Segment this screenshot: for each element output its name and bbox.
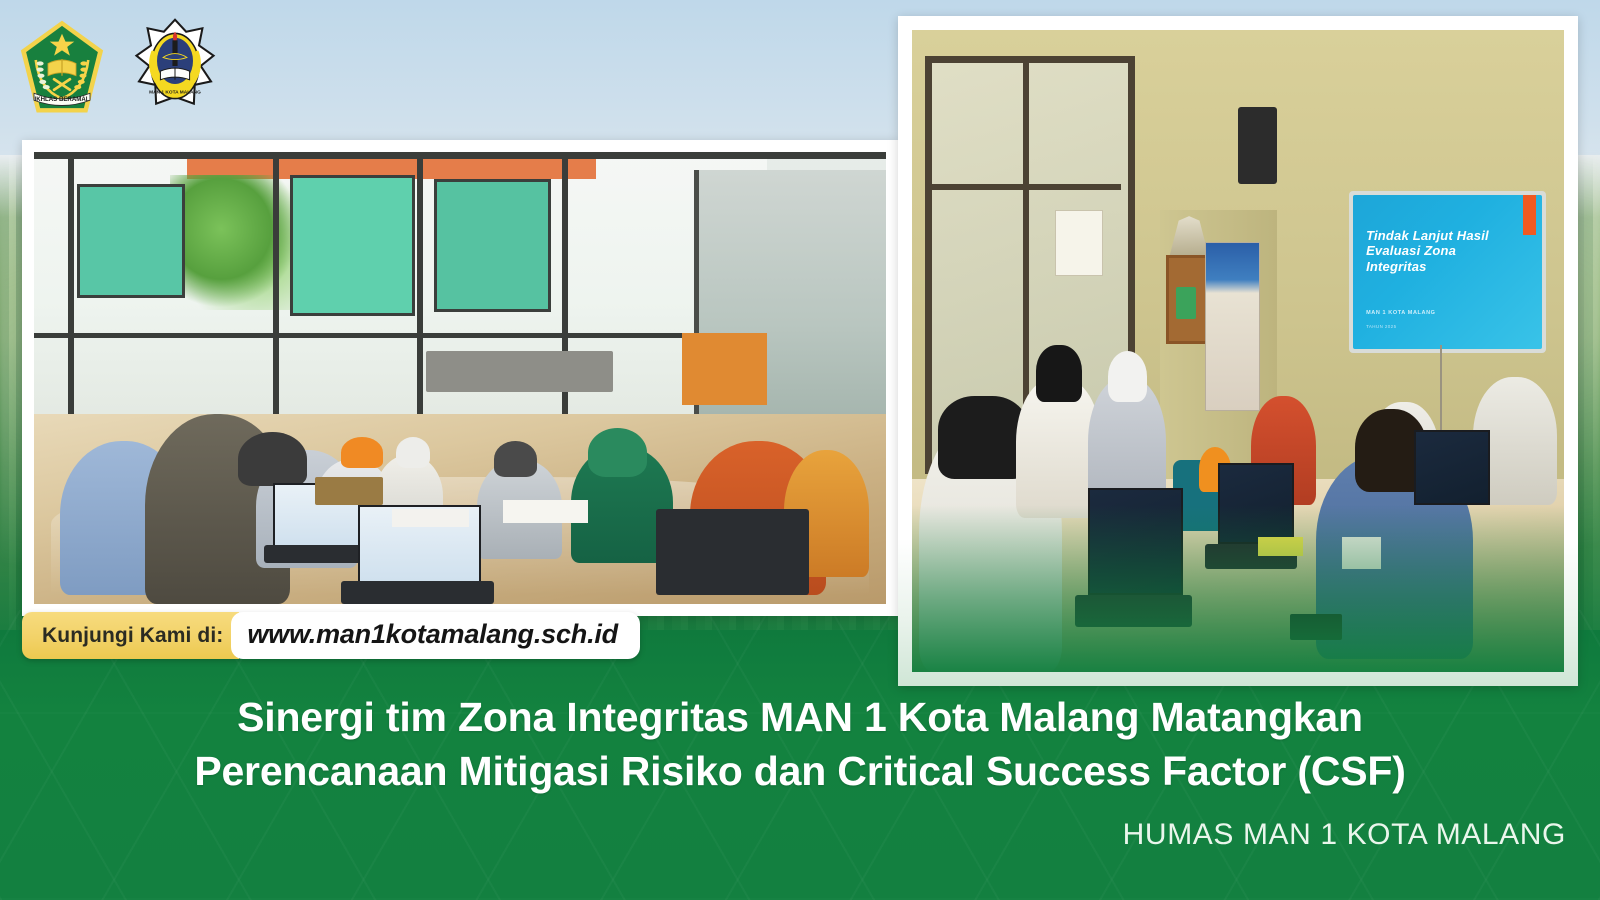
website-badge-label: Kunjungi Kami di:: [22, 612, 239, 659]
page-title-line1: Sinergi tim Zona Integritas MAN 1 Kota M…: [237, 694, 1363, 740]
poster-canvas: IKHLAS BERAMAL MAN 1 KOTA MALANG: [0, 0, 1600, 900]
photo-meeting-office: [22, 140, 898, 616]
screen-subtitle: MAN 1 KOTA MALANG: [1366, 310, 1435, 316]
kemenag-logo-motto: IKHLAS BERAMAL: [35, 96, 90, 103]
page-title: Sinergi tim Zona Integritas MAN 1 Kota M…: [60, 690, 1540, 798]
man1-logo-motto: MAN 1 KOTA MALANG: [149, 89, 201, 95]
kemenag-logo-icon: IKHLAS BERAMAL: [18, 18, 106, 116]
screen-title-line3: Integritas: [1366, 259, 1489, 274]
credit-line: HUMAS MAN 1 KOTA MALANG: [1123, 818, 1566, 852]
website-badge[interactable]: Kunjungi Kami di: www.man1kotamalang.sch…: [22, 612, 640, 659]
logo-group: IKHLAS BERAMAL MAN 1 KOTA MALANG: [18, 18, 218, 116]
website-url[interactable]: www.man1kotamalang.sch.id: [231, 612, 640, 659]
photo-meeting-presentation: Tindak Lanjut Hasil Evaluasi Zona Integr…: [898, 16, 1578, 686]
screen-title-line1: Tindak Lanjut Hasil: [1366, 228, 1489, 243]
man1-logo-icon: MAN 1 KOTA MALANG: [132, 18, 218, 114]
page-title-line2: Perencanaan Mitigasi Risiko dan Critical…: [60, 744, 1540, 798]
screen-subtitle-year: TAHUN 2025: [1366, 324, 1396, 329]
screen-title-line2: Evaluasi Zona: [1366, 243, 1489, 258]
presentation-screen: Tindak Lanjut Hasil Evaluasi Zona Integr…: [1349, 191, 1546, 353]
wall-speaker-icon: [1238, 107, 1277, 184]
